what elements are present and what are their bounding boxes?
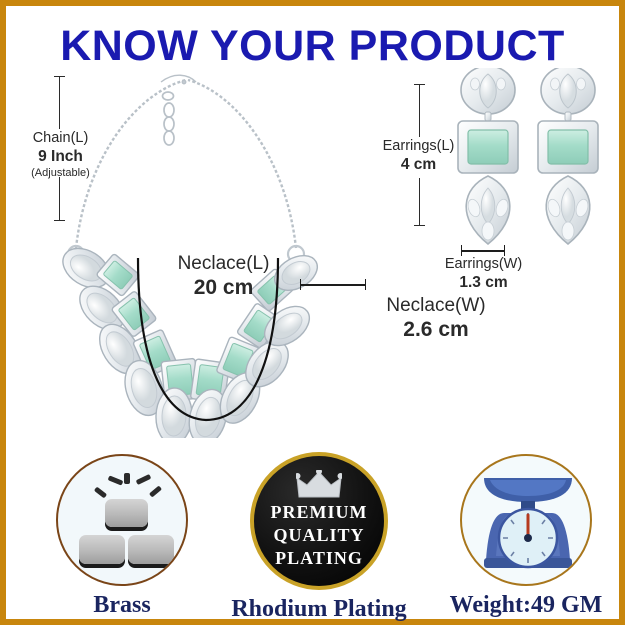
chain-length-line-top (59, 76, 60, 129)
earrings-width-line (461, 250, 505, 252)
necklace-width-line (300, 284, 366, 286)
chain-length-value: 9 Inch (8, 148, 113, 167)
earrings-width-value: 1.3 cm (421, 274, 546, 293)
earrings-width-label: Earrings(W) (421, 256, 546, 274)
premium-line-2: QUALITY (254, 525, 384, 546)
earrings-width-label-group: Earrings(W) 1.3 cm (421, 256, 546, 293)
spark-icon (149, 485, 162, 497)
premium-line-1: PREMIUM (254, 502, 384, 523)
earrings-width-cap-left (461, 245, 462, 256)
weight-circle (460, 454, 592, 586)
necklace-width-value: 2.6 cm (356, 317, 516, 343)
chain-length-label: Chain(L) (8, 130, 113, 148)
page-title: KNOW YOUR PRODUCT (6, 22, 619, 71)
brass-ingot-right (128, 535, 174, 564)
necklace-width-cap-right (365, 279, 366, 290)
badge-rhodium-plating: PREMIUM QUALITY PLATING Rhodium Plating (224, 452, 414, 623)
earrings-length-label: Earrings(L) (361, 138, 476, 156)
earrings-length-line-top (419, 84, 420, 137)
brass-ingot-top (105, 499, 148, 527)
necklace-width-label: Neclace(W) (356, 294, 516, 317)
brass-ingot-left (79, 535, 125, 564)
spark-icon (94, 487, 107, 499)
crown-icon (296, 470, 342, 500)
earrings-length-value: 4 cm (361, 156, 476, 175)
rhodium-caption: Rhodium Plating (224, 596, 414, 623)
premium-seal: PREMIUM QUALITY PLATING (250, 452, 388, 590)
measure-necklace-length: Neclace(L) 20 cm (141, 252, 306, 301)
chain-length-line-bottom (59, 177, 60, 221)
earrings-length-label-group: Earrings(L) 4 cm (361, 138, 476, 175)
necklace-width-cap-left (300, 279, 301, 290)
chain-length-cap-bottom (54, 220, 65, 221)
chain-length-label-group: Chain(L) 9 Inch (Adjustable) (8, 130, 113, 180)
necklace-length-value: 20 cm (141, 275, 306, 301)
infographic-page: KNOW YOUR PRODUCT (0, 0, 625, 625)
weighing-scale-icon (476, 468, 580, 576)
badge-brass: Brass (32, 454, 212, 619)
earrings-length-cap-bottom (414, 225, 425, 226)
earrings-length-line-bottom (419, 178, 420, 226)
chain-length-note: (Adjustable) (8, 167, 113, 180)
spark-icon (136, 474, 152, 485)
spark-icon (108, 475, 124, 485)
necklace-width-label-group: Neclace(W) 2.6 cm (356, 294, 516, 343)
premium-line-3: PLATING (254, 548, 384, 569)
brass-circle (56, 454, 188, 586)
necklace-length-label: Neclace(L) (141, 252, 306, 275)
brass-caption: Brass (32, 592, 212, 619)
badge-weight: Weight:49 GM (436, 454, 616, 619)
spark-icon (124, 473, 130, 484)
earrings-width-cap-right (504, 245, 505, 256)
weight-caption: Weight:49 GM (436, 592, 616, 619)
